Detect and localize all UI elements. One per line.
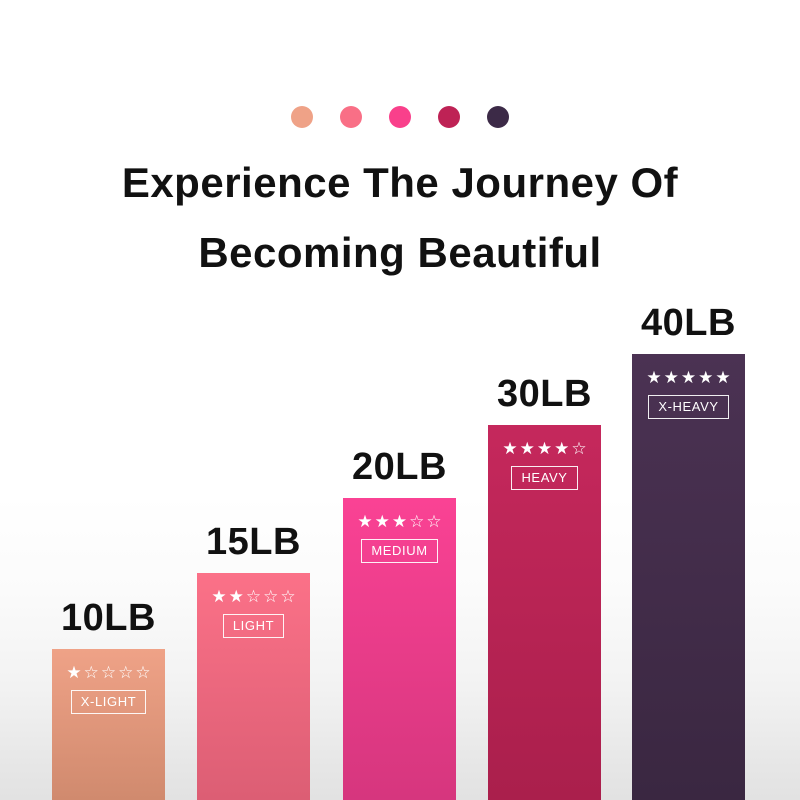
bar-20lb-level-label: MEDIUM: [361, 539, 437, 563]
bar-20lb-group: 20LB★★★☆☆MEDIUM: [343, 498, 456, 800]
bar-10lb-badge: ★☆☆☆☆X-LIGHT: [52, 663, 165, 714]
star-filled-icon: ★: [698, 368, 713, 388]
bar-40lb-group: 40LB★★★★★X-HEAVY: [632, 354, 745, 800]
bar-30lb-star-rating: ★★★★☆: [502, 439, 586, 459]
star-filled-icon: ★: [554, 439, 569, 459]
bar-15lb-level-label: LIGHT: [223, 614, 284, 638]
star-filled-icon: ★: [375, 512, 390, 532]
bar-10lb-star-rating: ★☆☆☆☆: [66, 663, 150, 683]
bar-10lb-group: 10LB★☆☆☆☆X-LIGHT: [52, 649, 165, 800]
bar-40lb-star-rating: ★★★★★: [646, 368, 730, 388]
star-empty-icon: ☆: [135, 663, 150, 683]
star-filled-icon: ★: [502, 439, 517, 459]
bar-20lb[interactable]: ★★★☆☆MEDIUM: [343, 498, 456, 800]
star-empty-icon: ☆: [118, 663, 133, 683]
star-filled-icon: ★: [392, 512, 407, 532]
star-filled-icon: ★: [229, 587, 244, 607]
bar-30lb-group: 30LB★★★★☆HEAVY: [488, 425, 601, 800]
star-filled-icon: ★: [211, 587, 226, 607]
bar-20lb-star-rating: ★★★☆☆: [357, 512, 441, 532]
star-empty-icon: ☆: [571, 439, 586, 459]
bar-30lb-badge: ★★★★☆HEAVY: [488, 439, 601, 490]
star-filled-icon: ★: [664, 368, 679, 388]
bar-40lb-weight-label: 40LB: [632, 302, 745, 345]
bar-10lb-weight-label: 10LB: [52, 597, 165, 640]
star-empty-icon: ☆: [263, 587, 278, 607]
bar-15lb-group: 15LB★★☆☆☆LIGHT: [197, 573, 310, 800]
star-empty-icon: ☆: [84, 663, 99, 683]
star-empty-icon: ☆: [426, 512, 441, 532]
bar-40lb[interactable]: ★★★★★X-HEAVY: [632, 354, 745, 800]
bar-15lb-weight-label: 15LB: [197, 521, 310, 564]
bar-10lb-level-label: X-LIGHT: [71, 690, 146, 714]
bar-10lb[interactable]: ★☆☆☆☆X-LIGHT: [52, 649, 165, 800]
star-empty-icon: ☆: [246, 587, 261, 607]
bar-15lb[interactable]: ★★☆☆☆LIGHT: [197, 573, 310, 800]
star-empty-icon: ☆: [409, 512, 424, 532]
bar-40lb-level-label: X-HEAVY: [648, 395, 728, 419]
star-filled-icon: ★: [537, 439, 552, 459]
bar-30lb-weight-label: 30LB: [488, 373, 601, 416]
star-empty-icon: ☆: [280, 587, 295, 607]
bar-15lb-star-rating: ★★☆☆☆: [211, 587, 295, 607]
resistance-bar-chart: 10LB★☆☆☆☆X-LIGHT15LB★★☆☆☆LIGHT20LB★★★☆☆M…: [0, 0, 800, 800]
star-filled-icon: ★: [357, 512, 372, 532]
bar-20lb-badge: ★★★☆☆MEDIUM: [343, 512, 456, 563]
star-empty-icon: ☆: [101, 663, 116, 683]
resistance-band-infographic: Experience The Journey Of Becoming Beaut…: [0, 0, 800, 800]
bar-15lb-badge: ★★☆☆☆LIGHT: [197, 587, 310, 638]
bar-30lb-level-label: HEAVY: [511, 466, 577, 490]
bar-40lb-badge: ★★★★★X-HEAVY: [632, 368, 745, 419]
bar-30lb[interactable]: ★★★★☆HEAVY: [488, 425, 601, 800]
bar-20lb-weight-label: 20LB: [343, 446, 456, 489]
star-filled-icon: ★: [646, 368, 661, 388]
star-filled-icon: ★: [681, 368, 696, 388]
star-filled-icon: ★: [66, 663, 81, 683]
star-filled-icon: ★: [715, 368, 730, 388]
star-filled-icon: ★: [520, 439, 535, 459]
